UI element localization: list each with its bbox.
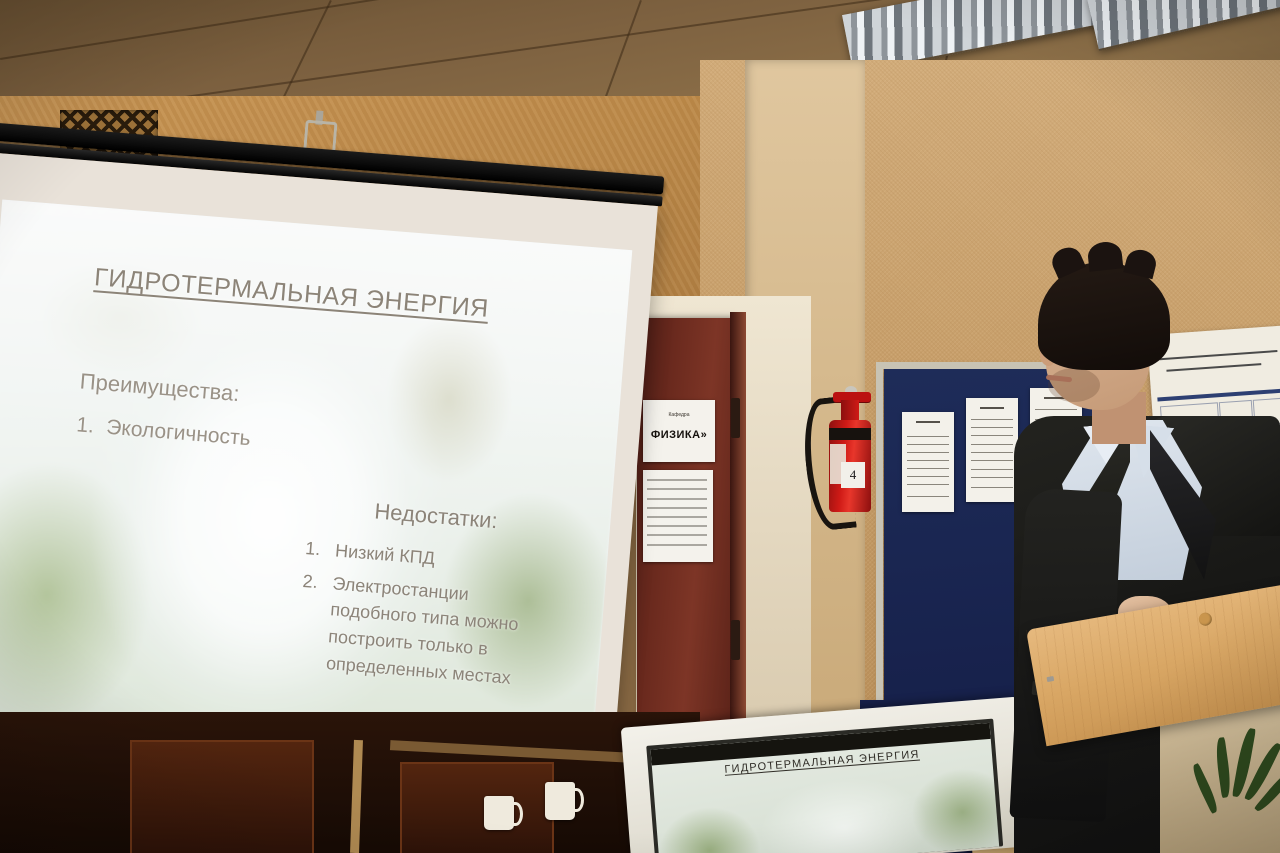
door-hinge	[731, 620, 740, 660]
mug	[545, 782, 575, 820]
face-shading	[1048, 368, 1100, 402]
ceiling-light-fixture	[1086, 0, 1280, 51]
list-text: Экологичность	[105, 413, 252, 454]
screen-surface: ГИДРОТЕРМАЛЬНАЯ ЭНЕРГИЯ Преимущества: 1.…	[0, 152, 658, 788]
fire-extinguisher-number-label: 4	[841, 462, 865, 488]
list-text: Низкий КПД	[334, 537, 436, 572]
potted-plant	[1192, 718, 1280, 853]
list-number: 1.	[75, 410, 97, 441]
hair-strand	[1087, 240, 1124, 271]
door-edge	[730, 312, 746, 768]
mug	[484, 796, 514, 830]
photo-scene: Кафедра ФИЗИКА» 4	[0, 0, 1280, 853]
projected-slide: ГИДРОТЕРМАЛЬНАЯ ЭНЕРГИЯ Преимущества: 1.…	[0, 200, 632, 791]
door-hinge	[731, 398, 740, 438]
fire-extinguisher-band	[829, 428, 871, 440]
slide-disadvantages-column: Недостатки: 1. Низкий КПД 2. Электростан…	[295, 493, 549, 699]
list-number: 1.	[304, 535, 326, 563]
list-text: Электростанции подобного типа можно пост…	[325, 570, 543, 693]
monitor-screen: ГИДРОТЕРМАЛЬНАЯ ЭНЕРГИЯ	[651, 723, 1000, 853]
door-notice-paper	[643, 470, 713, 562]
disadvantages-item: 2. Электростанции подобного типа можно п…	[295, 568, 543, 693]
